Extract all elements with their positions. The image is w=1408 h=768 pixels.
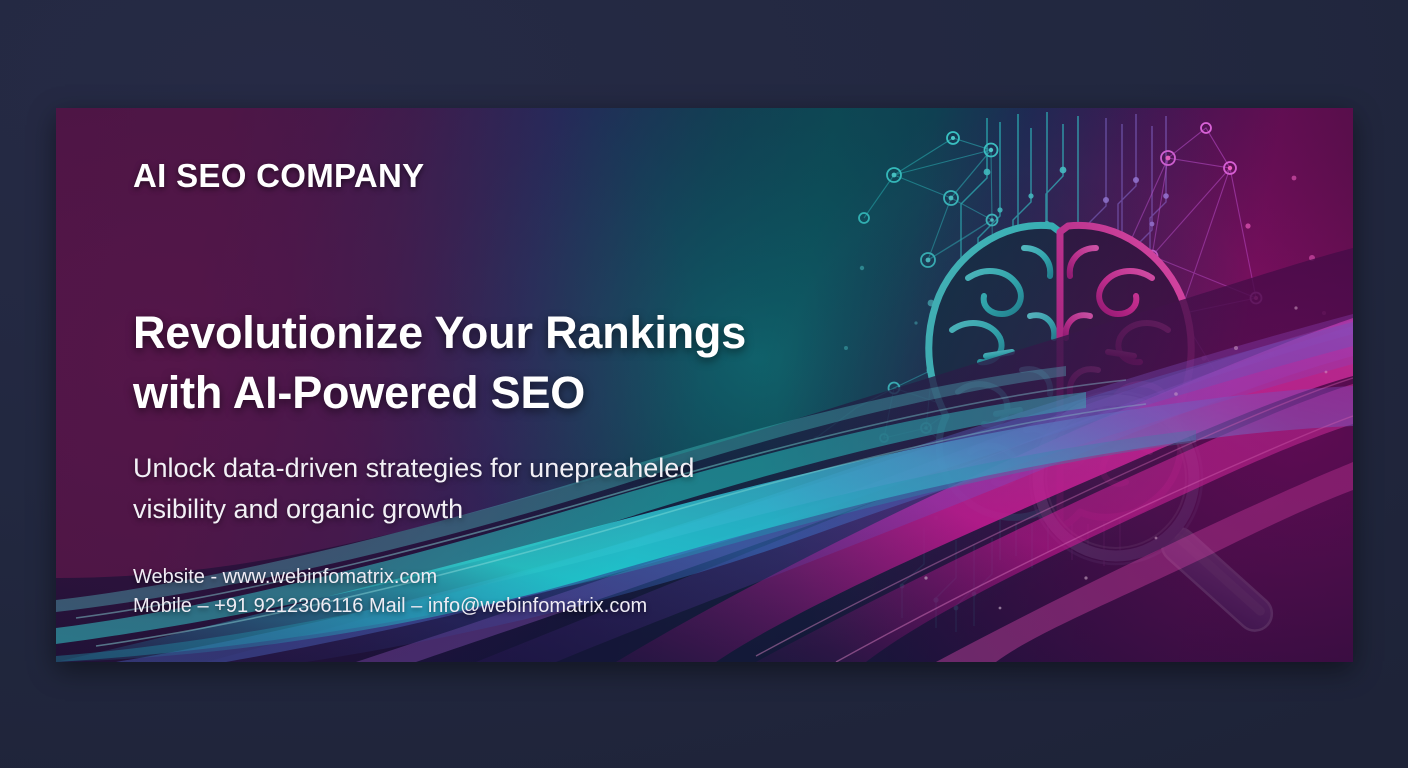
brain-fringe-right [1072,518,1120,566]
headline: Revolutionize Your Rankings with AI-Powe… [133,303,746,423]
seo-banner-card: AI SEO COMPANY Revolutionize Your Rankin… [56,108,1353,662]
circuit-traces-bottom [902,528,992,632]
network-right-nodes [1122,123,1262,322]
network-right-dots [1109,156,1326,411]
contact-block: Website - www.webinfomatrix.com Mobile –… [133,563,647,621]
subheadline-line-2: visibility and organic growth [133,489,694,530]
mobile-mail-line[interactable]: Mobile – +91 9212306116 Mail – info@webi… [133,592,647,621]
magnifier-handle [1155,521,1279,637]
page-root: AI SEO COMPANY Revolutionize Your Rankin… [0,0,1408,768]
brain-graphic [929,225,1191,568]
sparkle-dots [924,306,1327,609]
headline-line-1: Revolutionize Your Rankings [133,303,746,363]
subheadline-line-1: Unlock data-driven strategies for unepre… [133,448,694,489]
banner-copy: AI SEO COMPANY Revolutionize Your Rankin… [133,108,863,662]
circuit-traces-right [1086,114,1166,313]
brain-left-hemisphere [929,225,1060,526]
brain-right-hemisphere [1060,225,1191,526]
magnifier-graphic [1030,392,1279,638]
circuit-nodes-right [1103,177,1169,236]
brain-fringe-left [1000,518,1048,568]
network-left-nodes [859,132,1001,466]
circuit-nodes-left [984,167,1081,239]
network-right-edges [1126,128,1256,376]
website-line[interactable]: Website - www.webinfomatrix.com [133,563,647,592]
headline-line-2: with AI-Powered SEO [133,363,746,423]
circuit-traces-left [961,112,1078,314]
circuit-nodes-bottom [900,584,977,611]
subheadline: Unlock data-driven strategies for unepre… [133,448,694,530]
company-kicker: AI SEO COMPANY [133,157,424,195]
